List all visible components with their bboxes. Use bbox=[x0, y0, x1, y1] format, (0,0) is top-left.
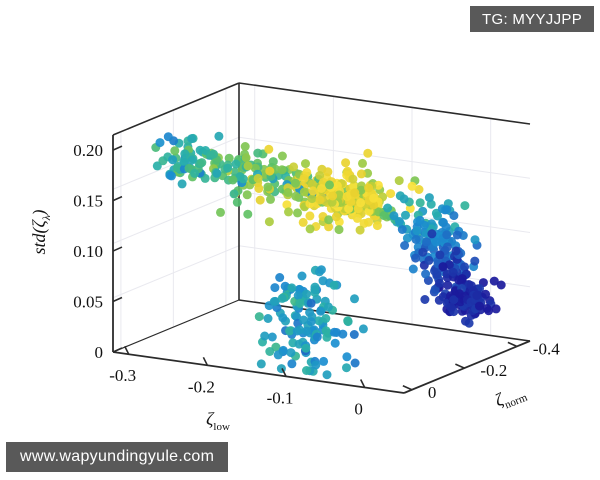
watermark-site-text: www.wapyundingyule.com bbox=[20, 448, 214, 466]
z-tick-label: 0 bbox=[95, 343, 104, 362]
z-tick-label: 0.20 bbox=[73, 141, 103, 160]
scatter3d-plot: 00.050.100.150.20-0.3-0.2-0.10-0.4-0.20s… bbox=[0, 0, 600, 480]
z-tick-label: 0.05 bbox=[73, 293, 103, 312]
y-tick-label: 0 bbox=[428, 383, 437, 402]
watermark-badge-tg: TG: MYYJJPP bbox=[470, 6, 594, 32]
y-axis-title: ζnorm bbox=[492, 380, 530, 414]
z-axis-title: std(ζλ) bbox=[29, 209, 53, 254]
chart-stage: 00.050.100.150.20-0.3-0.2-0.10-0.4-0.20s… bbox=[0, 0, 600, 480]
watermark-tg-text: TG: MYYJJPP bbox=[482, 11, 582, 28]
y-tick-label: -0.4 bbox=[533, 339, 560, 358]
data-points-group bbox=[151, 132, 505, 379]
y-tick-label: -0.2 bbox=[480, 361, 507, 380]
x-tick-label: -0.3 bbox=[109, 366, 136, 385]
watermark-badge-site: www.wapyundingyule.com bbox=[6, 442, 228, 472]
x-tick-label: -0.2 bbox=[188, 377, 215, 396]
x-tick-label: 0 bbox=[354, 399, 363, 418]
z-tick-label: 0.10 bbox=[73, 242, 103, 261]
x-axis-title: ζlow bbox=[206, 409, 230, 433]
x-tick-label: -0.1 bbox=[267, 388, 294, 407]
z-tick-label: 0.15 bbox=[73, 192, 103, 211]
